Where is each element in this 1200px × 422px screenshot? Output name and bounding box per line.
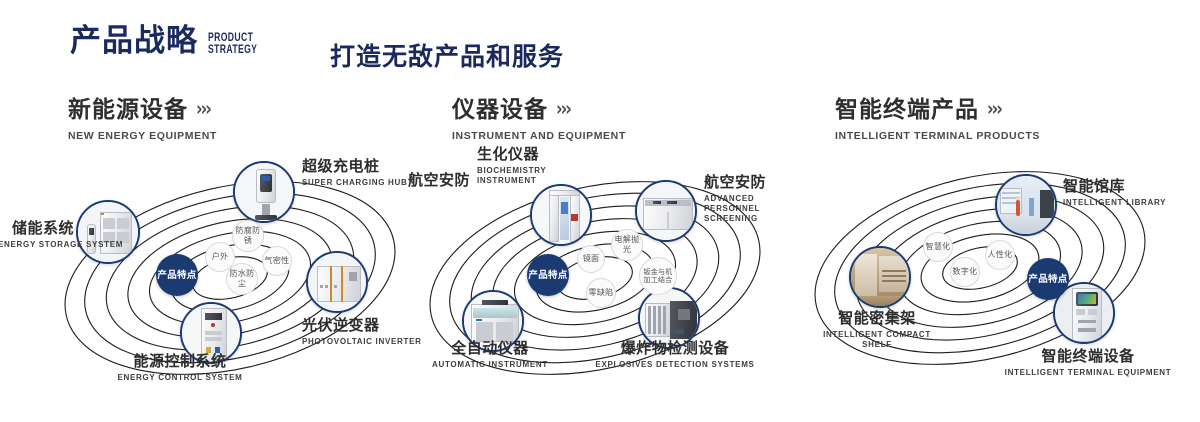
intelligent-library-icon [997,176,1055,234]
node-photovoltaic-inverter[interactable] [306,251,368,313]
node-label-en: BIOCHEMISTRY INSTRUMENT [477,166,553,186]
product-strategy-infographic: 产品战略 PRODUCT STRATEGY 打造无敌产品和服务 新能源设备›››… [0,0,1200,422]
label-energy-storage-system: 储能系统 ENERGY STORAGE SYSTEM [0,220,74,250]
bubble-label: 防水防尘 [227,269,257,289]
section-title-cn: 新能源设备››› [68,96,217,123]
chevron-right-icon: ››› [987,93,1001,126]
page-subtitle: 打造无敌产品和服务 [330,37,564,73]
node-label-cn: 爆炸物检测设备 [590,340,760,357]
section-title-en: INSTRUMENT AND EQUIPMENT [452,130,626,142]
section-title-cn: 智能终端产品››› [835,96,1040,123]
label-intelligent-library: 智能馆库 INTELLIGENT LIBRARY [1063,178,1166,208]
label-explosives-detection-systems: 爆炸物检测设备 EXPLOSIVES DETECTION SYSTEMS [590,340,760,370]
bubble-label: 零缺陷 [589,288,614,298]
section-title-en: INTELLIGENT TERMINAL PRODUCTS [835,130,1040,142]
biochemistry-analyzer-icon [532,186,590,244]
bubble-label: 智慧化 [926,242,951,252]
diagram-intelligent-terminal: 智能馆库 INTELLIGENT LIBRARY 智能密集架 INTELLIGE… [805,150,1200,390]
bubble-anticorrosion[interactable]: 防腐防锈 [232,220,264,252]
section-title-en: NEW ENERGY EQUIPMENT [68,130,217,142]
page-header: 产品战略 PRODUCT STRATEGY [70,26,276,57]
node-label-en: INTELLIGENT COMPACT SHELF [812,330,942,350]
pv-inverter-icon [308,253,366,311]
chevron-right-icon: ››› [196,93,210,126]
label-intelligent-compact-shelf: 智能密集架 INTELLIGENT COMPACT SHELF [797,310,957,350]
bubble-label: 气密性 [265,256,290,266]
bubble-core-product-features[interactable]: 产品特点 [527,254,569,296]
bubble-label: 电解抛光 [612,235,642,255]
node-advanced-personnel-screening[interactable] [635,180,697,242]
bubble-sheetmetal-machining[interactable]: 钣金与机加工结合 [639,257,677,295]
bubble-zero-defect[interactable]: 零缺陷 [586,278,616,308]
node-label-cn: 储能系统 [0,220,74,237]
section-title-cn: 仪器设备››› [452,96,626,123]
personnel-screening-scanner-icon [637,182,695,240]
node-label-en: SUPER CHARGING HUB [302,178,408,188]
node-label-en: INTELLIGENT LIBRARY [1063,198,1166,208]
node-label-cn: 全自动仪器 [410,340,570,357]
bubble-smart[interactable]: 智慧化 [923,232,953,262]
charging-pile-icon [235,163,293,221]
diagram-instrument: 航空安防 生化仪器 BIOCHEMISTRY INSTRUMENT [420,150,810,390]
node-super-charging-hub[interactable] [233,161,295,223]
node-biochemistry-instrument[interactable] [530,184,592,246]
node-energy-storage-system[interactable] [76,200,140,264]
bubble-label: 产品特点 [157,270,196,281]
node-label-cn: 光伏逆变器 [302,317,422,334]
node-label-en: ADVANCED PERSONNEL SCREENING [704,194,796,224]
node-label-cn: 智能密集架 [797,310,957,327]
bubble-label: 镜面 [583,254,600,264]
page-title: 产品战略 [70,26,198,57]
label-photovoltaic-inverter: 光伏逆变器 PHOTOVOLTAIC INVERTER [302,317,422,347]
bubble-mirror-finish[interactable]: 镜面 [577,245,605,273]
bubble-core-product-features[interactable]: 产品特点 [156,254,198,296]
node-label-cn: 智能终端设备 [1003,348,1173,365]
bubble-label: 数字化 [953,267,978,277]
node-label-en: ENERGY CONTROL SYSTEM [85,373,275,383]
node-label-en: ENERGY STORAGE SYSTEM [0,240,74,250]
label-energy-control-system: 能源控制系统 ENERGY CONTROL SYSTEM [85,353,275,383]
bubble-humanized[interactable]: 人性化 [985,240,1015,270]
section-title-intelligent-terminal: 智能终端产品››› INTELLIGENT TERMINAL PRODUCTS [835,96,1040,142]
node-label-en: INTELLIGENT TERMINAL EQUIPMENT [1003,368,1173,378]
label-intelligent-terminal-equipment: 智能终端设备 INTELLIGENT TERMINAL EQUIPMENT [1003,348,1173,378]
label-biochemistry-instrument: 生化仪器 BIOCHEMISTRY INSTRUMENT [477,146,553,186]
bubble-waterproof-dustproof[interactable]: 防水防尘 [226,263,258,295]
bubble-digital[interactable]: 数字化 [950,257,980,287]
section-title-instrument: 仪器设备››› INSTRUMENT AND EQUIPMENT [452,96,626,142]
bubble-airtightness[interactable]: 气密性 [262,246,292,276]
bubble-label: 钣金与机加工结合 [640,268,676,285]
label-advanced-personnel-screening: 航空安防 ADVANCED PERSONNEL SCREENING [704,174,796,224]
node-intelligent-library[interactable] [995,174,1057,236]
energy-storage-cabinet-icon [78,202,138,262]
node-label-en: PHOTOVOLTAIC INVERTER [302,337,422,347]
node-intelligent-compact-shelf[interactable] [849,246,911,308]
bubble-electrolytic-polishing[interactable]: 电解抛光 [611,229,643,261]
diagram-new-energy: 储能系统 ENERGY STORAGE SYSTEM 超级充电桩 SUPER C… [40,150,420,390]
page-title-english: PRODUCT STRATEGY [208,31,257,55]
bubble-label: 人性化 [988,250,1013,260]
bubble-label: 防腐防锈 [233,226,263,246]
bubble-label: 产品特点 [528,270,567,281]
node-label-cn: 生化仪器 [477,146,553,163]
chevron-right-icon: ››› [556,93,570,126]
bubble-label: 产品特点 [1028,274,1067,285]
section-title-new-energy: 新能源设备››› NEW ENERGY EQUIPMENT [68,96,217,142]
node-label-cn: 航空安防 [408,172,470,189]
node-label-en: AUTOMATIC INSTRUMENT [410,360,570,370]
label-automatic-instrument: 全自动仪器 AUTOMATIC INSTRUMENT [410,340,570,370]
node-label-en: EXPLOSIVES DETECTION SYSTEMS [590,360,760,370]
page-title-english-line2: STRATEGY [208,43,257,55]
node-label-cn: 智能馆库 [1063,178,1166,195]
node-label-cn: 超级充电桩 [302,158,408,175]
compact-shelf-icon [851,248,909,306]
node-label-cn: 能源控制系统 [85,353,275,370]
label-aviation-security-left: 航空安防 [408,172,470,189]
bubble-core-product-features[interactable]: 产品特点 [1027,258,1069,300]
bubble-label: 户外 [212,252,229,262]
node-label-cn: 航空安防 [704,174,796,191]
label-super-charging-hub: 超级充电桩 SUPER CHARGING HUB [302,158,408,188]
